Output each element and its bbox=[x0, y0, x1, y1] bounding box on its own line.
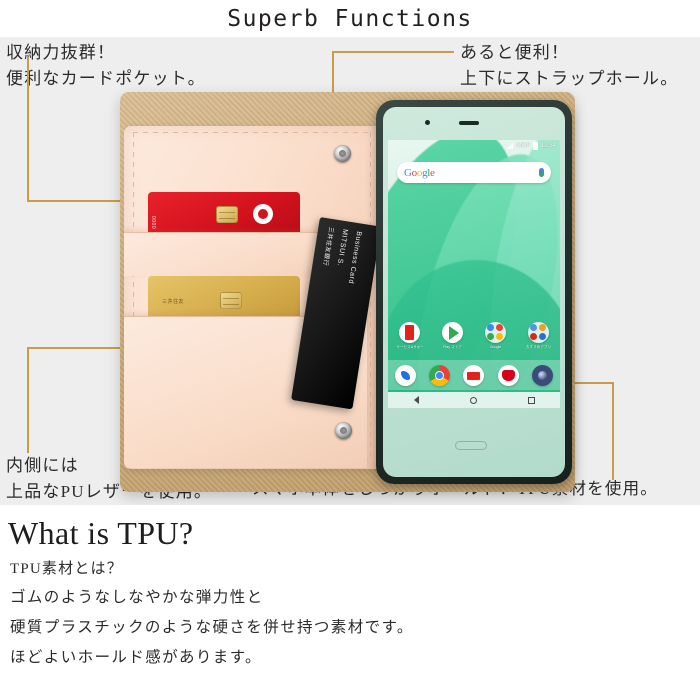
phone-screen: МОЛ 12:34 Google bbox=[388, 140, 560, 408]
navigation-bar bbox=[388, 392, 560, 408]
camera-icon[interactable] bbox=[532, 365, 553, 386]
chrome-icon[interactable] bbox=[429, 365, 450, 386]
card-chip-gold bbox=[220, 292, 242, 309]
tpu-explainer-section: What is TPU? TPU素材とは？ ゴムのようなしなやかな弾力性と 硬質… bbox=[0, 505, 700, 700]
leader-line-pu-vertical bbox=[27, 347, 29, 453]
annotation-strap-hole-line1: あると便利！ bbox=[460, 40, 678, 66]
google-search-bar[interactable]: Google bbox=[397, 162, 551, 183]
app-google-folder[interactable]: Google bbox=[483, 322, 509, 349]
carrier-label: МОЛ bbox=[516, 143, 530, 149]
phone-icon[interactable] bbox=[395, 365, 416, 386]
google-logo: Google bbox=[404, 167, 435, 179]
tpu-body-line3: ほどよいホールド感があります。 bbox=[10, 643, 414, 673]
annotation-card-pocket-line2: 便利なカードポケット。 bbox=[6, 66, 206, 92]
leader-line-card-pocket-vertical bbox=[27, 57, 29, 202]
earpiece-speaker bbox=[459, 121, 479, 125]
apps-folder-icon bbox=[528, 322, 549, 343]
smartphone: МОЛ 12:34 Google bbox=[383, 107, 565, 477]
recents-icon[interactable] bbox=[528, 397, 535, 404]
app-recommended-folder[interactable]: おすすめアプリ bbox=[526, 322, 552, 350]
status-bar: МОЛ 12:34 bbox=[388, 140, 560, 152]
leader-line-strap-horizontal bbox=[332, 51, 454, 53]
app-row-1: サービス&サポートのご案内 Play ストア bbox=[388, 322, 560, 350]
leader-line-tpu-vertical bbox=[612, 382, 614, 480]
app-label: サービス&サポートのご案内 bbox=[397, 345, 423, 350]
tpu-tray: МОЛ 12:34 Google bbox=[376, 100, 572, 484]
product-photo-open-case: 0000 三井住友 Business Card MITSUI S. 三井住友銀行 bbox=[120, 92, 575, 492]
clock-label: 12:34 bbox=[541, 143, 556, 149]
app-label: Play ストア bbox=[440, 345, 466, 350]
tpu-body-text: ゴムのようなしなやかな弾力性と 硬質プラスチックのような硬さを併せ持つ素材です。… bbox=[10, 583, 414, 674]
tpu-subheading: TPU素材とは？ bbox=[10, 557, 123, 578]
snap-button-bottom bbox=[335, 422, 352, 439]
title-bar: Superb Functions bbox=[0, 0, 700, 37]
card-business-line2: MITSUI S. bbox=[336, 228, 349, 266]
app-label: おすすめアプリ bbox=[526, 345, 552, 350]
annotation-card-pocket: 収納力抜群！ 便利なカードポケット。 bbox=[6, 40, 206, 91]
card-logo-red bbox=[253, 204, 273, 224]
card-number-red: 0000 bbox=[150, 216, 156, 229]
hero-panel: 収納力抜群！ 便利なカードポケット。 あると便利！ 上下にストラップホール。 内… bbox=[0, 37, 700, 505]
stitching-top bbox=[133, 132, 371, 133]
home-icon[interactable] bbox=[470, 397, 477, 404]
play-store-icon bbox=[442, 322, 463, 343]
card-red: 0000 bbox=[148, 192, 300, 236]
tpu-heading: What is TPU? bbox=[8, 515, 194, 552]
fingerprint-sensor bbox=[455, 441, 487, 450]
tpu-body-line2: 硬質プラスチックのような硬さを併せ持つ素材です。 bbox=[10, 613, 414, 643]
page-title: Superb Functions bbox=[227, 6, 473, 32]
mail-icon[interactable] bbox=[463, 365, 484, 386]
card-business-line3: 三井住友銀行 bbox=[321, 226, 336, 267]
annotation-card-pocket-line1: 収納力抜群！ bbox=[6, 40, 206, 66]
front-camera-icon bbox=[425, 120, 430, 125]
card-text-gold: 三井住友 bbox=[162, 298, 184, 305]
card-chip-red bbox=[216, 206, 238, 223]
red-book-icon bbox=[399, 322, 420, 343]
microphone-icon[interactable] bbox=[539, 168, 544, 177]
annotation-strap-hole: あると便利！ 上下にストラップホール。 bbox=[460, 40, 678, 91]
card-gold: 三井住友 bbox=[148, 276, 300, 320]
infographic-page: Superb Functions 収納力抜群！ 便利なカードポケット。 あると便… bbox=[0, 0, 700, 700]
app-dock bbox=[388, 360, 560, 390]
stitching-right bbox=[370, 132, 371, 462]
back-icon[interactable] bbox=[414, 396, 419, 404]
strap-hole-grommet-top bbox=[334, 145, 351, 162]
tpu-body-line1: ゴムのようなしなやかな弾力性と bbox=[10, 583, 414, 613]
app-red-book[interactable]: サービス&サポートのご案内 bbox=[397, 322, 423, 350]
signal-icon bbox=[506, 143, 513, 149]
google-folder-icon bbox=[485, 322, 506, 343]
card-business-line1: Business Card bbox=[347, 231, 362, 285]
app-play-store[interactable]: Play ストア bbox=[440, 322, 466, 350]
app-label: Google bbox=[483, 345, 509, 349]
red-app-icon[interactable] bbox=[498, 365, 519, 386]
annotation-strap-hole-line2: 上下にストラップホール。 bbox=[460, 66, 678, 92]
battery-icon bbox=[533, 142, 538, 150]
